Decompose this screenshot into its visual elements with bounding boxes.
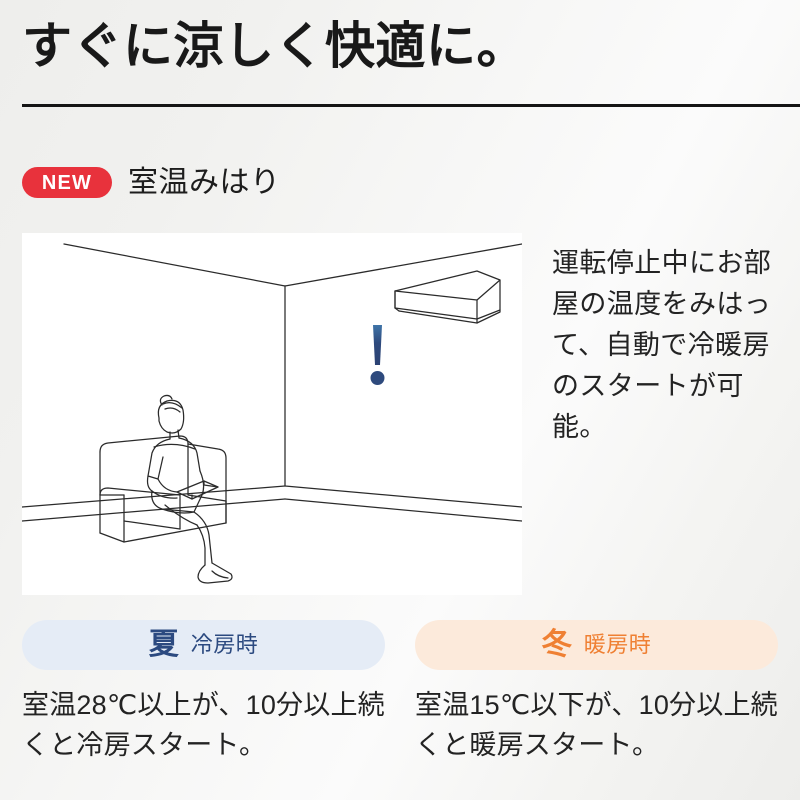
feature-description: 運転停止中にお部屋の温度をみはって、自動で冷暖房のスタートが可能。 bbox=[552, 243, 792, 448]
feature-name-label: 室温みはり bbox=[128, 168, 281, 198]
season-kanji-summer: 夏 bbox=[149, 630, 179, 660]
room-illustration bbox=[22, 233, 522, 595]
feature-heading-row: NEW 室温みはり bbox=[22, 167, 281, 198]
book bbox=[177, 481, 218, 499]
sofa bbox=[100, 436, 226, 542]
season-description-summer: 室温28℃以上が、10分以上続くと冷房スタート。 bbox=[22, 686, 385, 766]
illustration-panel bbox=[22, 233, 522, 595]
season-column-summer: 夏 冷房時 室温28℃以上が、10分以上続くと冷房スタート。 bbox=[22, 620, 385, 766]
left-baseboard-top bbox=[22, 486, 285, 507]
page-title: すぐに涼しく快適に。 bbox=[22, 14, 782, 78]
seated-person bbox=[148, 395, 233, 583]
title-divider bbox=[22, 104, 800, 107]
season-mode-summer: 冷房時 bbox=[191, 634, 259, 656]
right-baseboard-bottom bbox=[285, 499, 522, 521]
season-description-winter: 室温15℃以下が、10分以上続くと暖房スタート。 bbox=[415, 686, 778, 766]
ceiling-right-edge bbox=[285, 244, 522, 286]
season-badge-summer: 夏 冷房時 bbox=[22, 620, 385, 670]
season-column-winter: 冬 暖房時 室温15℃以下が、10分以上続くと暖房スタート。 bbox=[415, 620, 778, 766]
season-conditions-section: 夏 冷房時 室温28℃以上が、10分以上続くと冷房スタート。 冬 暖房時 室温1… bbox=[0, 620, 800, 766]
season-kanji-winter: 冬 bbox=[542, 630, 572, 660]
exclamation-mark-icon bbox=[371, 325, 385, 385]
season-mode-winter: 暖房時 bbox=[584, 634, 652, 656]
promo-page: すぐに涼しく快適に。 NEW 室温みはり bbox=[0, 0, 800, 800]
air-conditioner-icon bbox=[395, 271, 500, 323]
new-badge: NEW bbox=[22, 167, 112, 198]
ceiling-left-edge bbox=[64, 244, 285, 286]
season-badge-winter: 冬 暖房時 bbox=[415, 620, 778, 670]
right-baseboard-top bbox=[285, 486, 522, 507]
